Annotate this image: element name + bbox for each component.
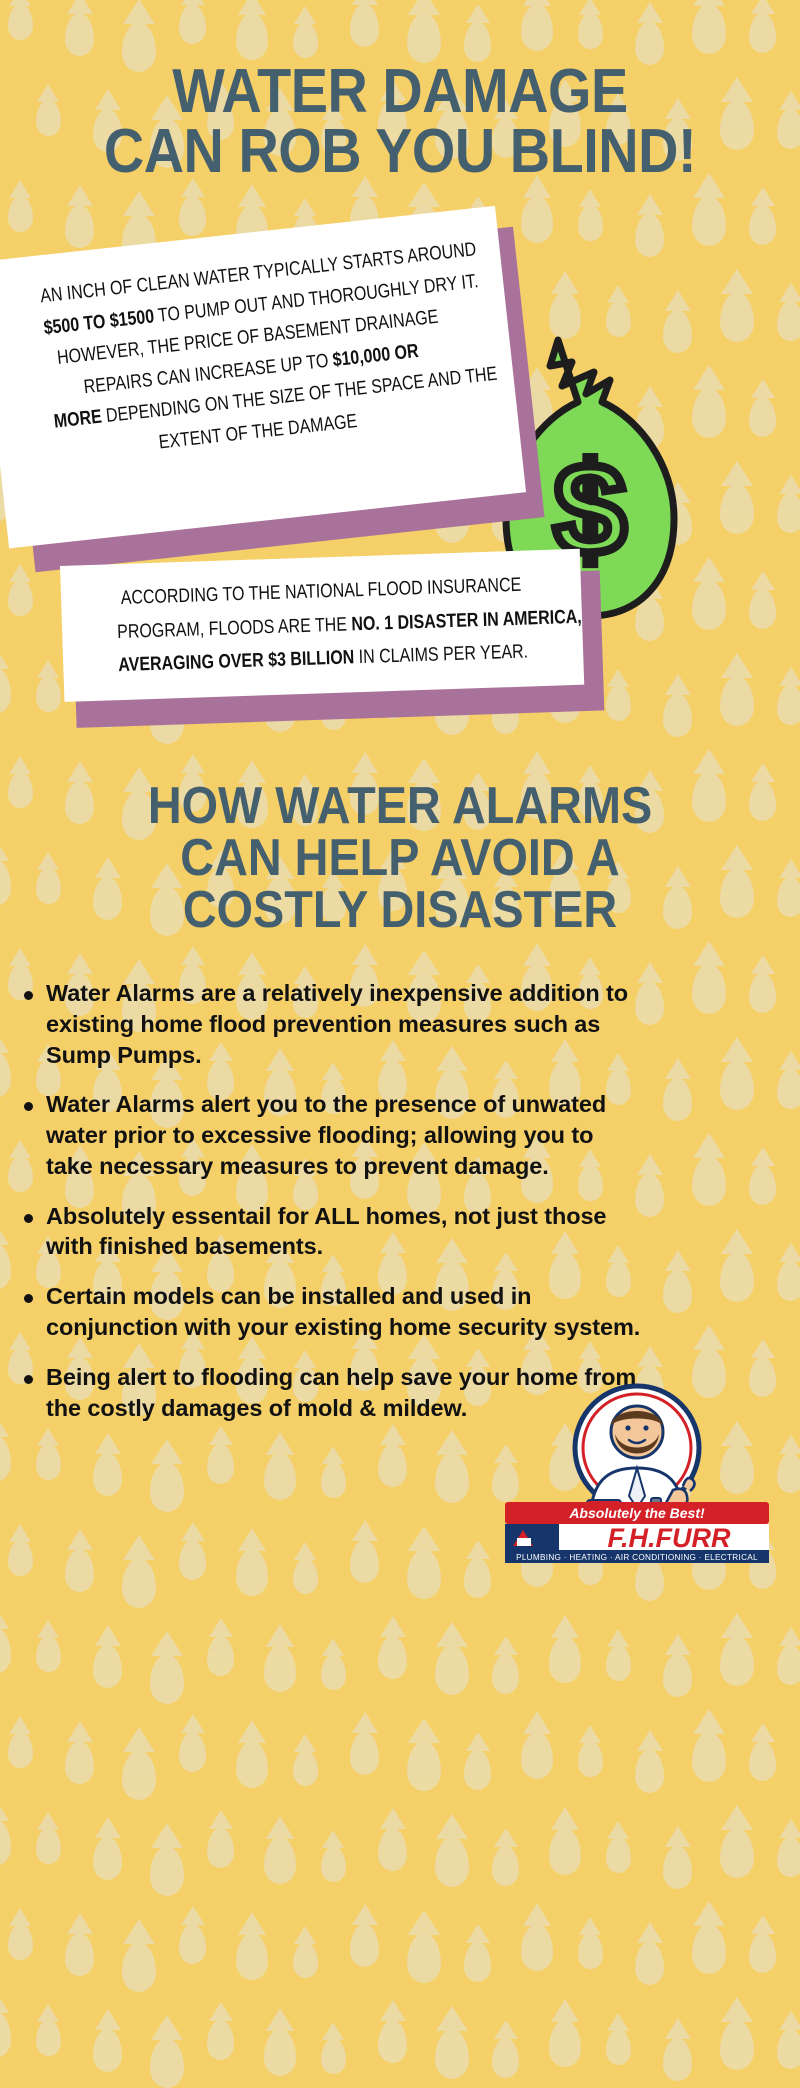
water-droplet-icon: [293, 1750, 318, 1786]
water-droplet-icon: [663, 1654, 692, 1697]
water-droplet-icon: [663, 1846, 692, 1889]
benefit-list-item-text: Water Alarms alert you to the presence o…: [46, 1089, 642, 1181]
water-droplet-icon: [492, 1654, 519, 1694]
water-droplet-icon: [749, 1741, 776, 1781]
logo-services: PLUMBING · HEATING · AIR CONDITIONING · …: [516, 1553, 758, 1562]
water-droplet-icon: [435, 1453, 469, 1503]
water-droplet-icon: [122, 1558, 156, 1608]
water-droplet-icon: [435, 1837, 469, 1887]
water-droplet-icon: [720, 1060, 754, 1110]
water-droplet-icon: [720, 292, 754, 342]
water-droplet-icon: [692, 196, 726, 246]
water-droplet-icon: [150, 1462, 184, 1512]
water-droplet-icon: [549, 1828, 581, 1875]
water-droplet-icon: [8, 1540, 33, 1576]
water-droplet-icon: [749, 589, 776, 629]
water-droplet-icon: [179, 1924, 206, 1964]
water-droplet-icon: [663, 1270, 692, 1313]
water-droplet-icon: [378, 1444, 407, 1487]
water-droplet-icon: [378, 2020, 407, 2063]
water-droplet-icon: [777, 301, 800, 341]
water-droplet-icon: [293, 22, 318, 58]
benefit-list-item-text: Water Alarms are a relatively inexpensiv…: [46, 978, 642, 1070]
benefit-list-item-text: Certain models can be installed and used…: [46, 1281, 642, 1343]
water-droplet-icon: [777, 1069, 800, 1109]
water-droplet-icon: [36, 1828, 61, 1864]
water-droplet-icon: [749, 397, 776, 437]
water-droplet-icon: [692, 1924, 726, 1974]
water-droplet-icon: [8, 1924, 33, 1960]
water-droplet-icon: [578, 1933, 603, 1969]
water-droplet-icon: [36, 1444, 61, 1480]
water-droplet-icon: [350, 1924, 379, 1967]
water-droplet-icon: [207, 2020, 234, 2060]
bullet-dot-icon: [24, 1375, 33, 1384]
bullet-dot-icon: [24, 991, 33, 1000]
water-droplet-icon: [663, 1078, 692, 1121]
water-droplet-icon: [36, 1636, 61, 1672]
water-droplet-icon: [150, 2038, 184, 2088]
water-droplet-icon: [122, 1942, 156, 1992]
page-title: WATER DAMAGE CAN ROB YOU BLIND!: [40, 62, 760, 181]
water-droplet-icon: [378, 1828, 407, 1871]
bullet-dot-icon: [24, 1102, 33, 1111]
water-droplet-icon: [777, 685, 800, 725]
water-droplet-icon: [777, 2029, 800, 2069]
logo-company-name: F.H.FURR: [608, 1523, 731, 1553]
water-droplet-icon: [777, 493, 800, 533]
benefit-list-item: Certain models can be installed and used…: [22, 1281, 642, 1343]
water-droplet-icon: [150, 1846, 184, 1896]
water-droplet-icon: [521, 1924, 553, 1971]
water-droplet-icon: [578, 1741, 603, 1777]
section-heading: HOW WATER ALARMS CAN HELP AVOID A COSTLY…: [40, 780, 760, 936]
water-droplet-icon: [521, 196, 553, 243]
water-droplet-icon: [65, 13, 94, 56]
water-droplet-icon: [777, 109, 800, 149]
water-droplet-icon: [578, 205, 603, 241]
water-droplet-icon: [93, 1453, 122, 1496]
water-droplet-icon: [692, 964, 726, 1014]
water-droplet-icon: [663, 694, 692, 737]
water-droplet-icon: [8, 580, 33, 616]
water-droplet-icon: [606, 2029, 631, 2065]
section-heading-line-3: COSTLY DISASTER: [40, 884, 760, 936]
company-logo[interactable]: Absolutely the Best! F.H.FURR PLUMBING ·…: [487, 1380, 787, 1565]
water-droplet-icon: [720, 1252, 754, 1302]
water-droplet-icon: [749, 1165, 776, 1205]
water-droplet-icon: [65, 205, 94, 248]
water-droplet-icon: [0, 1243, 11, 1290]
water-droplet-icon: [464, 1750, 491, 1790]
benefit-list-item: Water Alarms are a relatively inexpensiv…: [22, 978, 642, 1070]
water-droplet-icon: [0, 1819, 11, 1866]
water-droplet-icon: [8, 4, 33, 40]
water-droplet-icon: [663, 2038, 692, 2081]
water-droplet-icon: [236, 1933, 268, 1980]
water-droplet-icon: [378, 1636, 407, 1679]
water-droplet-icon: [207, 1444, 234, 1484]
water-droplet-icon: [179, 4, 206, 44]
flood-stat-card-text: ACCORDING TO THE NATIONAL FLOOD INSURANC…: [116, 569, 529, 683]
water-droplet-icon: [264, 1453, 296, 1500]
water-droplet-icon: [777, 1645, 800, 1685]
water-droplet-icon: [635, 1750, 664, 1793]
water-droplet-icon: [0, 2011, 11, 2058]
water-droplet-icon: [606, 1645, 631, 1681]
water-droplet-icon: [720, 1636, 754, 1686]
water-droplet-icon: [8, 772, 33, 808]
water-droplet-icon: [93, 1645, 122, 1688]
water-droplet-icon: [8, 1732, 33, 1768]
water-droplet-icon: [321, 1462, 346, 1498]
section-heading-line-1: HOW WATER ALARMS: [40, 780, 760, 832]
water-droplet-icon: [720, 2020, 754, 2070]
water-droplet-icon: [293, 1942, 318, 1978]
water-droplet-icon: [207, 1828, 234, 1868]
water-droplet-icon: [93, 1837, 122, 1880]
benefit-list-item-text: Absolutely essentail for ALL homes, not …: [46, 1201, 642, 1263]
water-droplet-icon: [692, 388, 726, 438]
water-droplet-icon: [777, 877, 800, 917]
water-droplet-icon: [264, 1837, 296, 1884]
water-droplet-icon: [435, 1645, 469, 1695]
bullet-dot-icon: [24, 1294, 33, 1303]
water-droplet-icon: [0, 1435, 11, 1482]
water-droplet-icon: [65, 1741, 94, 1784]
water-droplet-icon: [692, 4, 726, 54]
water-droplet-icon: [635, 22, 664, 65]
water-droplet-icon: [65, 1933, 94, 1976]
water-droplet-icon: [777, 1837, 800, 1877]
flood-stat-card-body: ACCORDING TO THE NATIONAL FLOOD INSURANC…: [60, 549, 584, 702]
water-droplet-icon: [635, 214, 664, 257]
water-droplet-icon: [36, 676, 61, 712]
logo-tagline: Absolutely the Best!: [568, 1505, 705, 1521]
water-droplet-icon: [720, 676, 754, 726]
benefit-list-item: Absolutely essentail for ALL homes, not …: [22, 1201, 642, 1263]
water-droplet-icon: [207, 1636, 234, 1676]
cost-fact-card-body: AN INCH OF CLEAN WATER TYPICALLY STARTS …: [0, 206, 526, 548]
water-droplet-icon: [464, 22, 491, 62]
water-droplet-icon: [350, 1732, 379, 1775]
water-droplet-icon: [407, 1549, 441, 1599]
water-droplet-icon: [179, 196, 206, 236]
water-droplet-icon: [0, 859, 11, 906]
water-droplet-icon: [8, 196, 33, 232]
water-droplet-icon: [749, 973, 776, 1013]
water-droplet-icon: [549, 1636, 581, 1683]
flood-stat-card: ACCORDING TO THE NATIONAL FLOOD INSURANC…: [60, 566, 600, 736]
water-droplet-icon: [549, 2020, 581, 2067]
water-droplet-icon: [350, 1540, 379, 1583]
water-droplet-icon: [749, 205, 776, 245]
water-droplet-icon: [521, 4, 553, 51]
cost-fact-card: AN INCH OF CLEAN WATER TYPICALLY STARTS …: [0, 262, 518, 562]
water-droplet-icon: [492, 1846, 519, 1886]
water-droplet-icon: [0, 1051, 11, 1098]
water-droplet-icon: [236, 1741, 268, 1788]
water-droplet-icon: [93, 2029, 122, 2072]
water-droplet-icon: [407, 13, 441, 63]
water-droplet-icon: [692, 1156, 726, 1206]
water-droplet-icon: [179, 1540, 206, 1580]
water-droplet-icon: [635, 1942, 664, 1985]
water-droplet-icon: [749, 13, 776, 53]
water-droplet-icon: [0, 1627, 11, 1674]
water-droplet-icon: [236, 13, 268, 60]
water-droplet-icon: [492, 2038, 519, 2078]
water-droplet-icon: [749, 1933, 776, 1973]
water-droplet-icon: [321, 2038, 346, 2074]
benefit-list-item: Water Alarms alert you to the presence o…: [22, 1089, 642, 1181]
water-droplet-icon: [0, 667, 11, 714]
section-heading-line-2: CAN HELP AVOID A: [40, 832, 760, 884]
water-droplet-icon: [293, 1558, 318, 1594]
water-droplet-icon: [435, 2029, 469, 2079]
water-droplet-icon: [65, 1549, 94, 1592]
water-droplet-icon: [692, 580, 726, 630]
cost-fact-card-text: AN INCH OF CLEAN WATER TYPICALLY STARTS …: [39, 238, 461, 470]
bullet-dot-icon: [24, 1214, 33, 1223]
water-droplet-icon: [264, 1645, 296, 1692]
water-droplet-icon: [606, 1837, 631, 1873]
water-droplet-icon: [321, 1654, 346, 1690]
page-title-line-2: CAN ROB YOU BLIND!: [40, 122, 760, 182]
water-droplet-icon: [720, 484, 754, 534]
water-droplet-icon: [464, 1942, 491, 1982]
water-droplet-icon: [264, 2029, 296, 2076]
water-droplet-icon: [122, 1750, 156, 1800]
water-droplet-icon: [521, 1732, 553, 1779]
water-droplet-icon: [606, 685, 631, 721]
benefits-list: Water Alarms are a relatively inexpensiv…: [22, 978, 642, 1442]
water-droplet-icon: [36, 2020, 61, 2056]
water-droplet-icon: [720, 1828, 754, 1878]
water-droplet-icon: [321, 1846, 346, 1882]
water-droplet-icon: [407, 1933, 441, 1983]
water-droplet-icon: [407, 1741, 441, 1791]
water-droplet-icon: [179, 1732, 206, 1772]
water-droplet-icon: [692, 1732, 726, 1782]
page-title-line-1: WATER DAMAGE: [40, 62, 760, 122]
water-droplet-icon: [236, 1549, 268, 1596]
water-droplet-icon: [350, 4, 379, 47]
water-droplet-icon: [777, 1261, 800, 1301]
water-droplet-icon: [150, 1654, 184, 1704]
water-droplet-icon: [578, 13, 603, 49]
